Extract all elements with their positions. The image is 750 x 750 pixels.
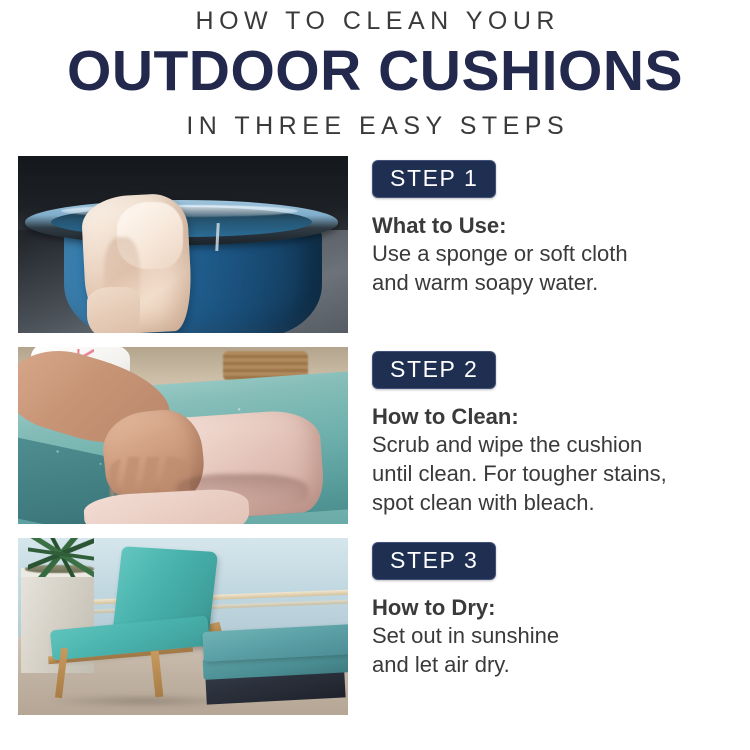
cloth-tail [87, 287, 140, 333]
step-3-heading: How to Dry: [372, 594, 750, 622]
step-2-heading: How to Clean: [372, 403, 750, 431]
step-1-body-line: and warm soapy water. [372, 269, 750, 298]
step-1-badge: STEP 1 [372, 160, 496, 198]
step-3-body: Set out in sunshine and let air dry. [372, 622, 750, 679]
agave-plant [28, 538, 94, 577]
step-2-badge: STEP 2 [372, 351, 496, 389]
step-3-body-line: and let air dry. [372, 651, 750, 680]
step-1-heading: What to Use: [372, 212, 750, 240]
step-row: STEP 3 How to Dry: Set out in sunshine a… [0, 538, 750, 715]
header-subtitle: IN THREE EASY STEPS [0, 113, 750, 139]
step-3-badge: STEP 3 [372, 542, 496, 580]
step-1-body-line: Use a sponge or soft cloth [372, 240, 750, 269]
step-2-body-line: until clean. For tougher stains, [372, 460, 750, 489]
step-1-photo [18, 156, 348, 333]
step-row: STEP 1 What to Use: Use a sponge or soft… [0, 156, 750, 333]
step-2-text: STEP 2 How to Clean: Scrub and wipe the … [348, 347, 750, 517]
step-2-body-line: spot clean with bleach. [372, 489, 750, 518]
step-2-photo [18, 347, 348, 524]
step-3-body-line: Set out in sunshine [372, 622, 750, 651]
step-row: STEP 2 How to Clean: Scrub and wipe the … [0, 347, 750, 524]
step-3-text: STEP 3 How to Dry: Set out in sunshine a… [348, 538, 750, 680]
step-3-photo [18, 538, 348, 715]
page-title: OUTDOOR CUSHIONS [0, 41, 750, 103]
infographic-root: HOW TO CLEAN YOUR OUTDOOR CUSHIONS IN TH… [0, 0, 750, 750]
header-kicker: HOW TO CLEAN YOUR [0, 8, 750, 34]
step-1-text: STEP 1 What to Use: Use a sponge or soft… [348, 156, 750, 298]
step-2-body: Scrub and wipe the cushion until clean. … [372, 431, 750, 517]
header: HOW TO CLEAN YOUR OUTDOOR CUSHIONS IN TH… [0, 0, 750, 139]
step-2-body-line: Scrub and wipe the cushion [372, 431, 750, 460]
steps-list: STEP 1 What to Use: Use a sponge or soft… [0, 156, 750, 715]
step-1-body: Use a sponge or soft cloth and warm soap… [372, 240, 750, 297]
